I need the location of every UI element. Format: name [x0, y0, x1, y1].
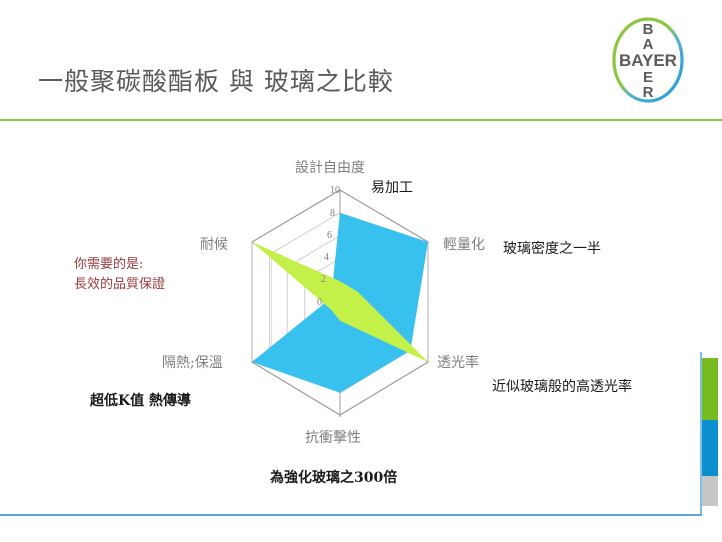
annotation-half-density: 玻璃密度之一半 — [503, 238, 601, 258]
callout-quality: 你需要的是: 長效的品質保證 — [74, 255, 165, 295]
annotation-easy-processing: 易加工 — [371, 177, 413, 197]
right-bar-gray — [702, 476, 718, 506]
annotation-low-k-value: 超低K值 熱傳導 — [90, 390, 191, 410]
bottom-divider — [0, 514, 702, 516]
tick-label-8: 8 — [330, 208, 335, 219]
tick-label-6: 6 — [327, 230, 332, 241]
axis-label-weatherability: 耐候 — [200, 234, 228, 254]
annotation-high-transmittance: 近似玻璃般的高透光率 — [492, 376, 632, 396]
axis-label-lightweight: 輕量化 — [443, 234, 485, 254]
axis-label-design-freedom: 設計自由度 — [295, 157, 365, 177]
tick-label-10: 10 — [330, 185, 340, 196]
callout-line-1: 你需要的是: — [74, 255, 165, 275]
title-divider — [0, 119, 722, 121]
radar-chart — [150, 145, 580, 445]
axis-label-thermal-insulation: 隔熱;保溫 — [162, 352, 223, 372]
svg-text:R: R — [643, 84, 654, 101]
callout-line-2: 長效的品質保證 — [74, 275, 165, 295]
annotation-impact-300x: 為強化玻璃之300倍 — [270, 467, 397, 487]
bayer-logo: B A BAYER E R — [609, 14, 687, 106]
tick-label-4: 4 — [324, 252, 329, 263]
svg-text:BAYER: BAYER — [619, 51, 677, 70]
slide-canvas: 一般聚碳酸酯板 與 玻璃之比較 B A BAYER E R — [0, 0, 722, 542]
tick-label-2: 2 — [321, 274, 326, 285]
right-bar-green — [702, 358, 718, 420]
right-bar-blue — [702, 420, 718, 476]
axis-label-impact-resistance: 抗衝擊性 — [305, 427, 361, 447]
page-title: 一般聚碳酸酯板 與 玻璃之比較 — [38, 62, 394, 98]
axis-label-light-transmittance: 透光率 — [437, 352, 479, 372]
tick-label-0: 0 — [317, 297, 322, 308]
